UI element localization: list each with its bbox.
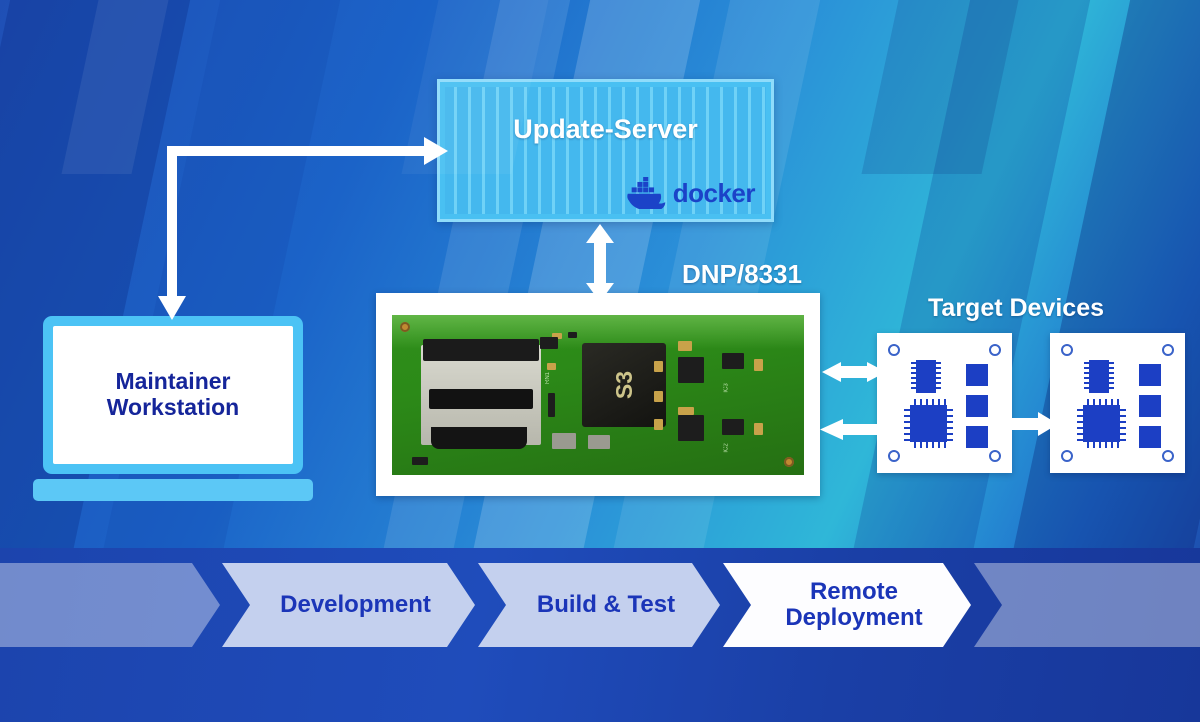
smd-regulator — [722, 419, 744, 435]
smd-capacitor — [547, 363, 556, 370]
process-step-label: Remote Deployment — [771, 579, 922, 632]
target-device-board-1[interactable] — [877, 333, 1012, 473]
laptop-base — [33, 479, 313, 501]
board-hole-bl — [1061, 450, 1073, 462]
target-device-board-2[interactable] — [1050, 333, 1185, 473]
smd-capacitor — [654, 419, 663, 430]
workstation-label-line2: Workstation — [107, 395, 239, 421]
sd-slot-bottom — [431, 427, 527, 449]
sd-slot-top-bar — [423, 339, 539, 361]
smd-inductor-large — [678, 415, 704, 441]
board-hole-tr — [1162, 344, 1174, 356]
laptop-screen: Maintainer Workstation — [53, 326, 293, 464]
pcb-silkscreen: RN1 — [545, 372, 551, 384]
qfp-pins-bottom — [1087, 442, 1089, 448]
smd-led — [412, 457, 428, 465]
qfp-pins-top — [1087, 399, 1089, 405]
pcb-mount-hole-br — [784, 457, 794, 467]
docker-whale-icon — [626, 177, 668, 209]
sd-card-slot — [421, 345, 541, 445]
smd-resistor-array — [548, 393, 555, 417]
qfn-chip-icon-1 — [1139, 364, 1161, 386]
board-hole-tr — [989, 344, 1001, 356]
device-board-photo-frame[interactable]: S3 RN1 IC3 IC2 — [376, 293, 820, 496]
pcb-mount-hole-tl — [400, 322, 410, 332]
process-step-label: Build & Test — [523, 592, 675, 618]
qfp-chip-icon — [1083, 405, 1120, 442]
qfn-chip-icon-2 — [966, 395, 988, 417]
docker-wordmark: docker — [673, 178, 755, 209]
smd-crystal — [588, 435, 610, 449]
pcb-silkscreen: IC3 — [724, 383, 730, 392]
main-processor-chip: S3 — [582, 343, 666, 427]
maintainer-workstation[interactable]: Maintainer Workstation — [33, 316, 313, 501]
qfp-pins-top — [914, 399, 916, 405]
dip-pins-right — [936, 362, 941, 364]
dip-pins-right — [1109, 362, 1114, 364]
target-devices-title: Target Devices — [928, 294, 1104, 323]
smd-capacitor — [754, 423, 763, 435]
process-step-build-test[interactable]: Build & Test — [478, 563, 720, 647]
process-step-remote-deployment[interactable]: Remote Deployment — [723, 563, 971, 647]
dip-pins-left — [1084, 362, 1089, 364]
qfn-chip-icon-1 — [966, 364, 988, 386]
qfn-chip-icon-3 — [966, 426, 988, 448]
smd-capacitor — [754, 359, 763, 371]
qfp-pins-right — [1120, 409, 1126, 411]
workstation-label-line1: Maintainer — [107, 369, 239, 395]
qfp-pins-bottom — [914, 442, 916, 448]
smd-resistor — [568, 332, 577, 338]
board-hole-br — [1162, 450, 1174, 462]
smd-capacitor — [654, 361, 663, 372]
qfp-pins-left — [904, 409, 910, 411]
board-hole-bl — [888, 450, 900, 462]
dip-pins-left — [911, 362, 916, 364]
pcb-silkscreen: IC2 — [724, 443, 730, 452]
qfn-chip-icon-2 — [1139, 395, 1161, 417]
smd-capacitor — [654, 391, 663, 402]
smd-ic-small — [540, 337, 558, 349]
qfp-chip-icon — [910, 405, 947, 442]
smd-inductor-large — [678, 357, 704, 383]
docker-logo: docker — [626, 177, 755, 209]
board-hole-br — [989, 450, 1001, 462]
qfn-chip-icon-3 — [1139, 426, 1161, 448]
laptop-lid: Maintainer Workstation — [43, 316, 303, 474]
process-step-label: Development — [266, 592, 431, 618]
qfp-pins-right — [947, 409, 953, 411]
smd-inductor — [678, 341, 692, 351]
workstation-label: Maintainer Workstation — [107, 369, 239, 421]
pcb: S3 RN1 IC3 IC2 — [392, 315, 804, 475]
smd-capacitor — [678, 407, 694, 415]
dip-chip-icon — [1089, 360, 1109, 393]
dip-chip-icon — [916, 360, 936, 393]
board-hole-tl — [888, 344, 900, 356]
process-step-development[interactable]: Development — [222, 563, 475, 647]
smd-crystal — [552, 433, 576, 449]
process-step-4[interactable] — [974, 563, 1200, 647]
board-hole-tl — [1061, 344, 1073, 356]
chip-marking: S3 — [582, 343, 666, 427]
diagram-canvas: Update-Server docker — [0, 0, 1200, 722]
qfp-pins-left — [1077, 409, 1083, 411]
smd-regulator — [722, 353, 744, 369]
sd-slot-label-bar — [429, 389, 533, 409]
device-board-title: DNP/8331 — [682, 259, 802, 290]
process-step-0[interactable] — [0, 563, 220, 647]
